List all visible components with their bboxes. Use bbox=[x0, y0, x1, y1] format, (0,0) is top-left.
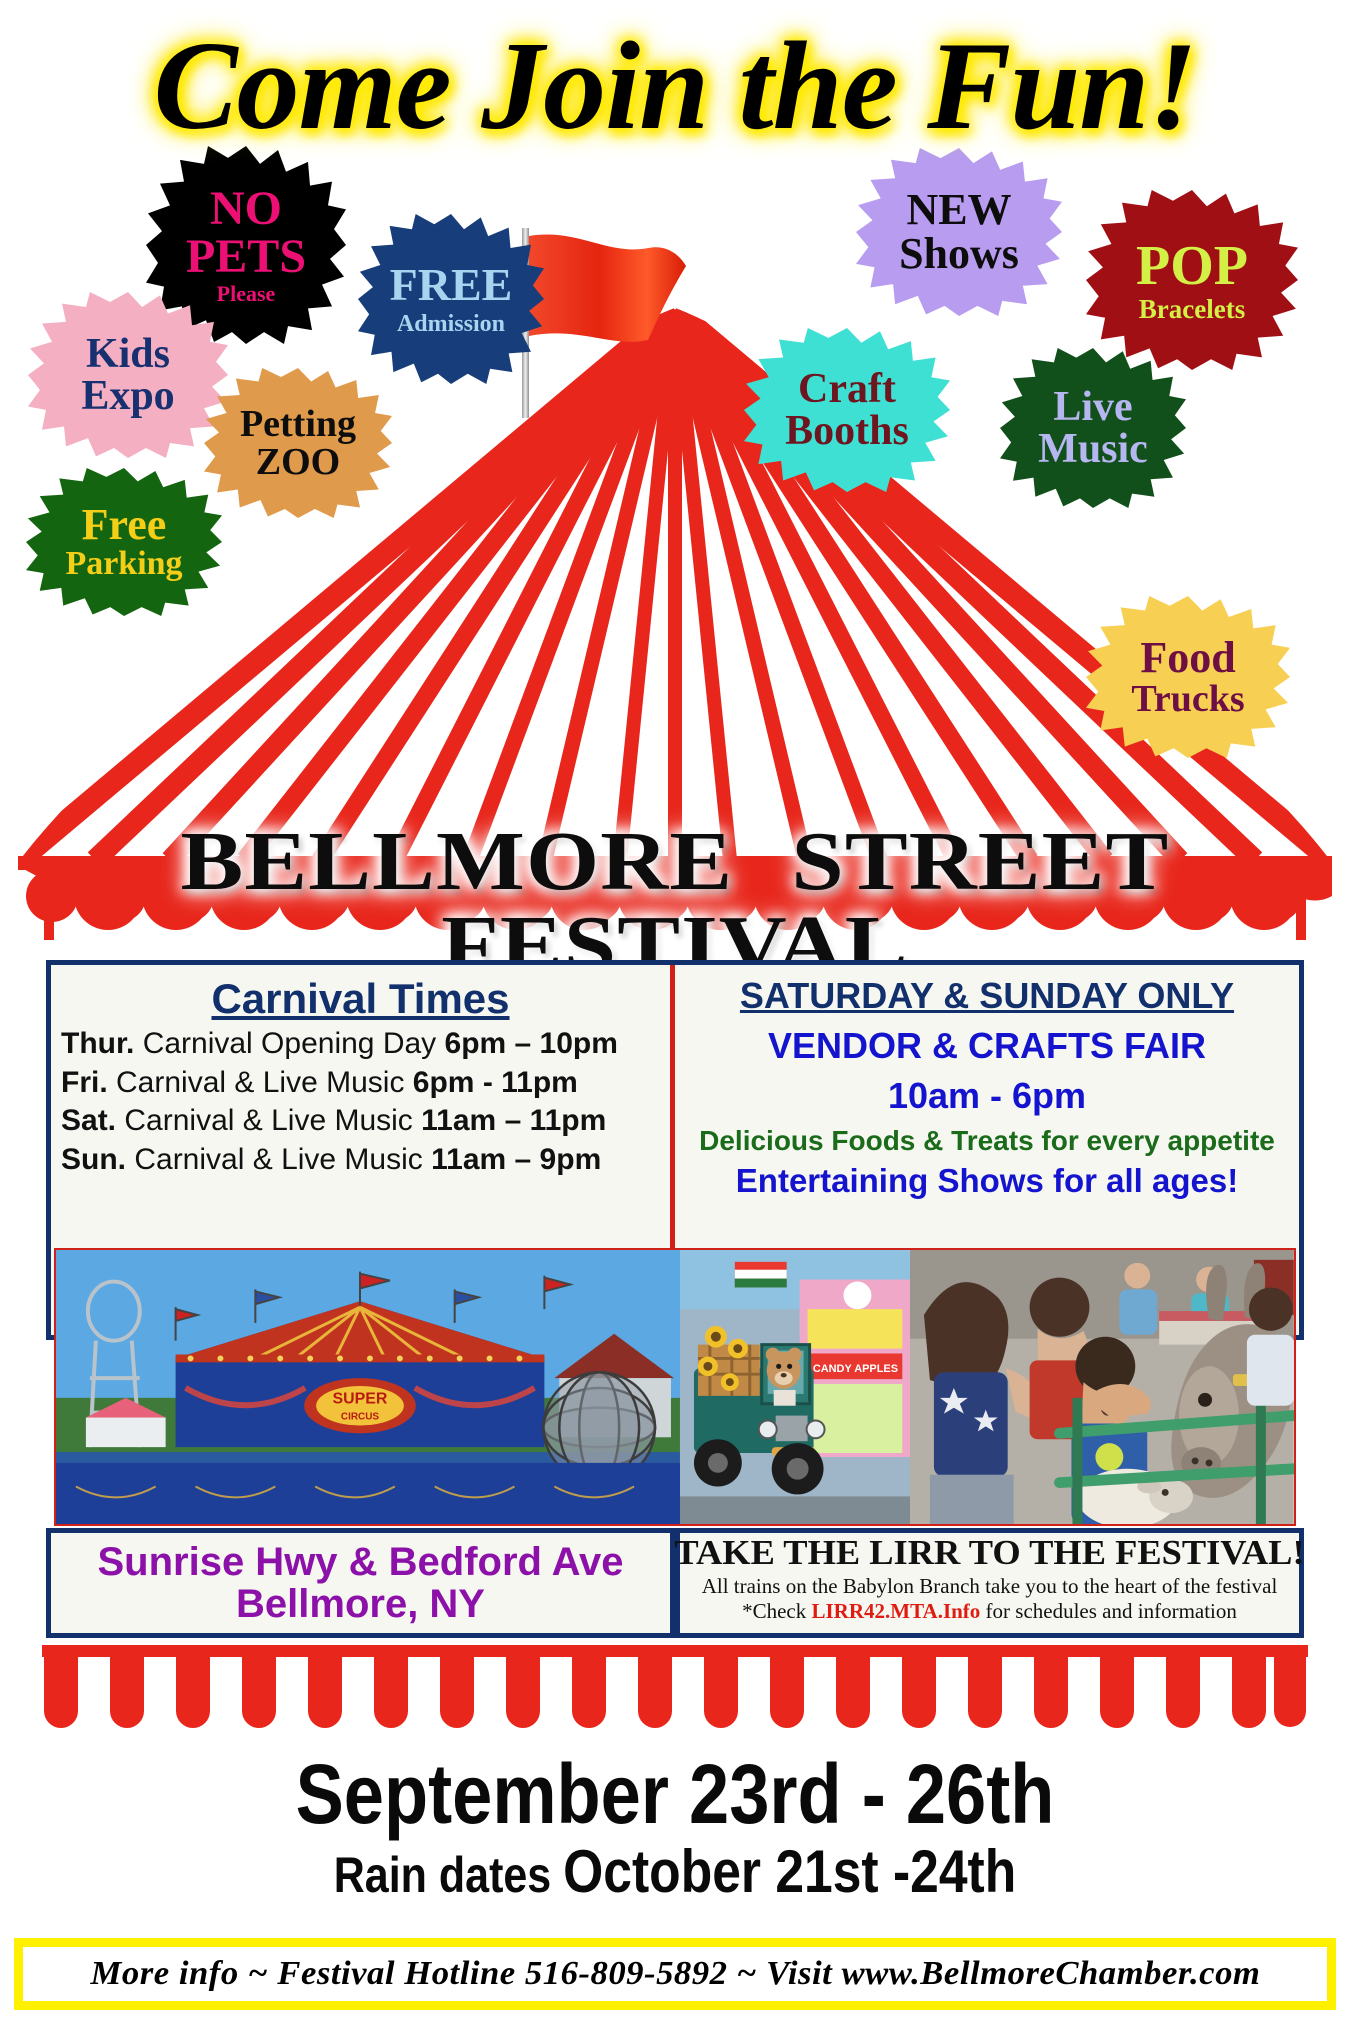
photo-strip: SUPER CIRCUS bbox=[54, 1248, 1296, 1526]
vendor-fair-title: VENDOR & CRAFTS FAIR bbox=[683, 1025, 1291, 1067]
banner-word-2: STREET bbox=[791, 820, 1169, 904]
lirr-box: TAKE THE LIRR TO THE FESTIVAL! All train… bbox=[675, 1528, 1304, 1638]
rain-dates-value: October 21st -24th bbox=[563, 1838, 1016, 1905]
carnival-times-heading: Carnival Times bbox=[59, 975, 662, 1023]
badge-free-parking-label: Free Parking bbox=[59, 503, 188, 581]
table-row: Sat. Carnival & Live Music 11am – 11pm bbox=[61, 1104, 662, 1139]
lirr-url[interactable]: LIRR42.MTA.Info bbox=[812, 1599, 981, 1623]
lirr-details: All trains on the Babylon Branch take yo… bbox=[686, 1574, 1293, 1625]
schedule-desc: Carnival & Live Music bbox=[124, 1104, 412, 1137]
schedule-day: Fri. bbox=[61, 1066, 108, 1099]
vendor-shows-note: Entertaining Shows for all ages! bbox=[683, 1162, 1291, 1200]
schedule-time: 6pm – 10pm bbox=[445, 1027, 618, 1060]
badge-craft-booths-label: Craft Booths bbox=[779, 368, 915, 452]
contact-footer-text: More info ~ Festival Hotline 516-809-589… bbox=[90, 1955, 1260, 1993]
schedule-day: Sat. bbox=[61, 1104, 116, 1137]
badge-petting-zoo-label: Petting ZOO bbox=[234, 405, 362, 481]
badge-food-trucks-label: Food Trucks bbox=[1125, 636, 1250, 718]
schedule-desc: Carnival & Live Music bbox=[116, 1066, 404, 1099]
rain-dates-label: Rain dates bbox=[334, 1847, 563, 1903]
badge-food-trucks: Food Trucks bbox=[1086, 596, 1290, 758]
festival-dates: September 23rd - 26th Rain dates October… bbox=[0, 1752, 1350, 1903]
badge-craft-booths: Craft Booths bbox=[744, 328, 950, 492]
badge-pop-bracelets-label: POP Bracelets bbox=[1130, 238, 1254, 323]
schedule-time: 11am – 11pm bbox=[421, 1104, 606, 1137]
badge-free-parking: Free Parking bbox=[26, 468, 222, 616]
schedule-day: Sun. bbox=[61, 1143, 126, 1176]
badge-new-shows-label: NEW Shows bbox=[893, 188, 1025, 276]
svg-text:CIRCUS: CIRCUS bbox=[341, 1412, 380, 1423]
schedule-desc: Carnival Opening Day bbox=[143, 1027, 436, 1060]
badge-live-music-label: Live Music bbox=[1032, 386, 1154, 470]
svg-text:CANDY APPLES: CANDY APPLES bbox=[813, 1363, 898, 1375]
badge-petting-zoo: Petting ZOO bbox=[204, 368, 392, 518]
vendor-fair-hours: 10am - 6pm bbox=[683, 1075, 1291, 1117]
tent-bottom-valance bbox=[42, 1645, 1308, 1760]
banner-word-1: BELLMORE bbox=[181, 820, 734, 904]
svg-text:SUPER: SUPER bbox=[333, 1391, 388, 1408]
lirr-heading: TAKE THE LIRR TO THE FESTIVAL! bbox=[674, 1535, 1305, 1572]
badge-live-music: Live Music bbox=[1000, 348, 1186, 508]
page-title: Come Join the Fun! bbox=[0, 24, 1350, 150]
bottom-info-boxes: Sunrise Hwy & Bedford Ave Bellmore, NY T… bbox=[46, 1528, 1304, 1638]
photo-parade-truck-mascot: CANDY APPLES bbox=[680, 1250, 910, 1524]
festival-rain-dates: Rain dates October 21st -24th bbox=[95, 1840, 1256, 1903]
table-row: Sun. Carnival & Live Music 11am – 9pm bbox=[61, 1143, 662, 1178]
schedule-time: 6pm - 11pm bbox=[413, 1066, 578, 1099]
badge-free-admission: FREE Admission bbox=[358, 214, 544, 384]
schedule-time: 11am – 9pm bbox=[431, 1143, 601, 1176]
badge-new-shows: NEW Shows bbox=[856, 148, 1062, 316]
badge-free-admission-label: FREE Admission bbox=[384, 262, 519, 336]
vendor-food-note: Delicious Foods & Treats for every appet… bbox=[683, 1125, 1291, 1157]
photo-super-circus-tent: SUPER CIRCUS bbox=[56, 1250, 680, 1524]
location-box: Sunrise Hwy & Bedford Ave Bellmore, NY bbox=[46, 1528, 675, 1638]
location-city: Bellmore, NY bbox=[236, 1583, 485, 1625]
contact-footer: More info ~ Festival Hotline 516-809-589… bbox=[14, 1938, 1336, 2010]
table-row: Thur. Carnival Opening Day 6pm – 10pm bbox=[61, 1027, 662, 1062]
lirr-body-b: for schedules and information bbox=[980, 1599, 1237, 1623]
badge-pop-bracelets: POP Bracelets bbox=[1086, 190, 1298, 370]
festival-date-main: September 23rd - 26th bbox=[95, 1752, 1256, 1838]
schedule-desc: Carnival & Live Music bbox=[134, 1143, 422, 1176]
badge-kids-expo: Kids Expo bbox=[28, 292, 228, 458]
vendor-days-heading: SATURDAY & SUNDAY ONLY bbox=[683, 975, 1291, 1017]
location-street: Sunrise Hwy & Bedford Ave bbox=[97, 1541, 623, 1583]
table-row: Fri. Carnival & Live Music 6pm - 11pm bbox=[61, 1066, 662, 1101]
schedule-day: Thur. bbox=[61, 1027, 134, 1060]
festival-poster: Come Join the Fun! bbox=[0, 0, 1350, 2025]
badge-kids-expo-label: Kids Expo bbox=[75, 333, 180, 417]
badge-no-pets-label: NO PETS Please bbox=[180, 185, 312, 305]
photo-petting-zoo-donkeys bbox=[910, 1250, 1294, 1524]
